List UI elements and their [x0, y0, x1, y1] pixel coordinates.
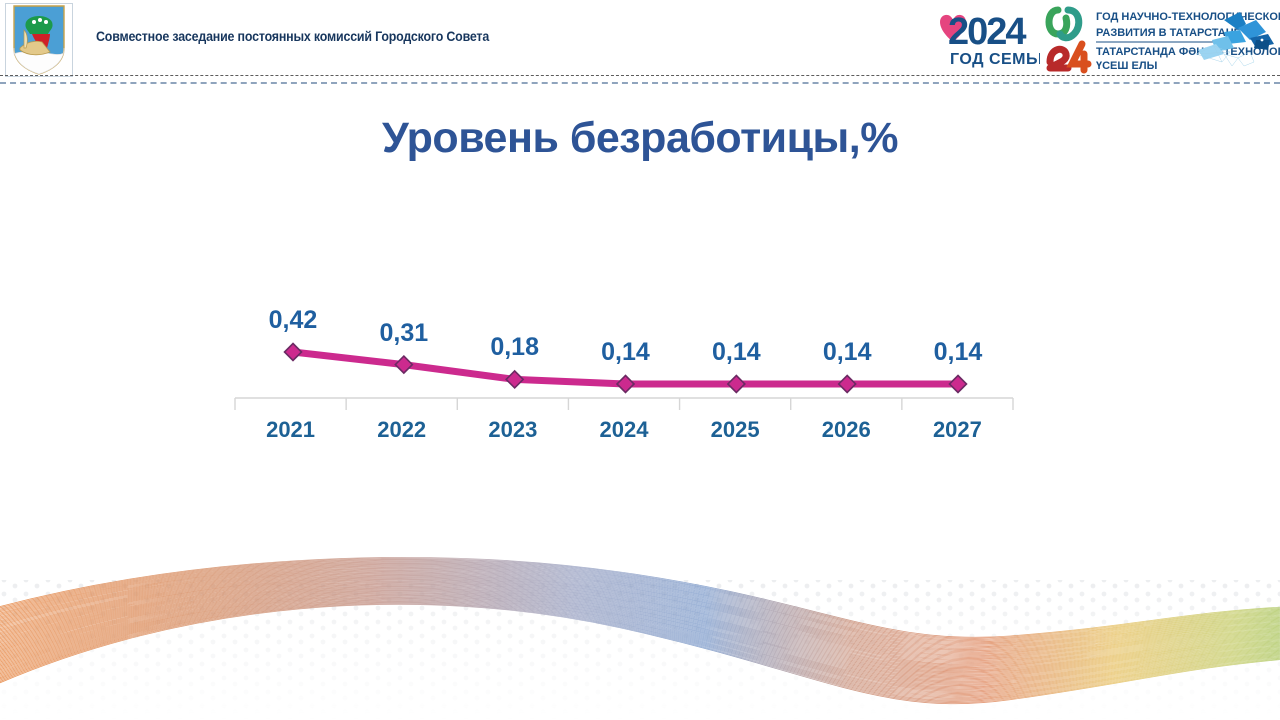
- wave-line: [0, 590, 1280, 683]
- wave-line: [0, 587, 1280, 679]
- data-value-label: 0,42: [233, 306, 353, 335]
- wave-line: [0, 581, 1280, 670]
- category-label-2027: 2027: [887, 417, 1027, 443]
- wave-line: [0, 558, 1280, 638]
- data-value-label: 0,14: [898, 338, 1018, 367]
- wave-line: [0, 573, 1280, 659]
- wave-line: [0, 575, 1280, 662]
- science-line-1: ГОД НАУЧНО-ТЕХНОЛОГИЧЕСКОГО: [1096, 11, 1280, 23]
- wave-line: [0, 597, 1280, 693]
- wave-line: [0, 574, 1280, 661]
- wave-line: [0, 557, 1280, 637]
- data-point-marker: [728, 376, 745, 393]
- wave-line: [0, 577, 1280, 665]
- wave-line: [0, 572, 1280, 658]
- wave-line: [0, 589, 1280, 682]
- slide-header: Совместное заседание постоянных комиссий…: [0, 0, 1280, 78]
- wave-line: [0, 599, 1280, 696]
- wave-line: [0, 592, 1280, 686]
- science-line-3: ТАТАРСТАНДА ФӘННИ-ТЕХНОЛОГИК: [1096, 46, 1280, 58]
- wave-line: [0, 577, 1280, 665]
- data-point-marker: [285, 344, 302, 361]
- data-point-marker: [950, 376, 967, 393]
- wave-line: [0, 583, 1280, 673]
- science-line-4: ҮСЕШ ЕЛЫ: [1096, 60, 1158, 72]
- data-value-label: 0,14: [676, 338, 796, 367]
- page-title: Уровень безработицы,%: [0, 114, 1280, 163]
- wave-line: [0, 595, 1280, 690]
- wave-line: [0, 598, 1280, 695]
- header-divider-light: [0, 82, 1280, 84]
- data-value-label: 0,31: [344, 319, 464, 348]
- data-point-marker: [506, 371, 523, 388]
- wave-line: [0, 596, 1280, 692]
- data-point-marker: [839, 376, 856, 393]
- wave-line: [0, 563, 1280, 645]
- wave-line: [0, 565, 1280, 648]
- wave-line: [0, 562, 1280, 644]
- data-point-marker: [395, 356, 412, 373]
- year-of-family-logo: 2024 ГОД СЕМЬИ: [928, 4, 1040, 70]
- wave-line: [0, 565, 1280, 648]
- wave-line: [0, 570, 1280, 655]
- wave-line: [0, 573, 1280, 659]
- wave-line: [0, 582, 1280, 672]
- wave-line: [0, 581, 1280, 671]
- wave-line: [0, 560, 1280, 641]
- science-logo-mark: [1049, 10, 1088, 70]
- wave-line: [0, 568, 1280, 652]
- wave-line: [0, 569, 1280, 653]
- wave-line: [0, 564, 1280, 647]
- svg-text:ГОД СЕМЬИ: ГОД СЕМЬИ: [950, 51, 1040, 68]
- data-point-marker: [617, 376, 634, 393]
- wave-line: [0, 584, 1280, 675]
- wave-line: [0, 588, 1280, 681]
- data-value-label: 0,18: [455, 333, 575, 362]
- wave-line: [0, 579, 1280, 668]
- wave-line: [0, 561, 1280, 643]
- wave-line: [0, 588, 1280, 680]
- wave-line: [0, 567, 1280, 651]
- wave-line: [0, 601, 1280, 699]
- header-divider-dark: [0, 75, 1280, 76]
- science-line-2: РАЗВИТИЯ В ТАТАРСТАНЕ: [1096, 27, 1241, 39]
- wave-line: [0, 576, 1280, 663]
- wave-line: [0, 578, 1280, 666]
- wave-line: [0, 604, 1280, 703]
- wave-line: [0, 602, 1280, 700]
- wave-line: [0, 566, 1280, 649]
- wave-line: [0, 596, 1280, 692]
- header-title: Совместное заседание постоянных комиссий…: [96, 29, 489, 44]
- wave-line: [0, 600, 1280, 698]
- wave-line: [0, 569, 1280, 654]
- wave-line: [0, 593, 1280, 688]
- wave-line: [0, 603, 1280, 702]
- wave-line: [0, 594, 1280, 689]
- data-value-label: 0,14: [566, 338, 686, 367]
- wave-line: [0, 600, 1280, 697]
- data-value-label: 0,14: [787, 338, 907, 367]
- wave-line: [0, 585, 1280, 676]
- wave-line: [0, 586, 1280, 678]
- wave-line: [0, 592, 1280, 686]
- x-axis-ticks: [235, 398, 1013, 410]
- decorative-wave: [0, 520, 1280, 720]
- wave-line: [0, 591, 1280, 685]
- wave-line: [0, 604, 1280, 703]
- wave-line: [0, 580, 1280, 669]
- wave-line: [0, 584, 1280, 675]
- year-of-science-logo: ГОД НАУЧНО-ТЕХНОЛОГИЧЕСКОГО РАЗВИТИЯ В Т…: [1044, 4, 1280, 74]
- wave-line: [0, 561, 1280, 642]
- coat-of-arms-icon: [5, 3, 73, 77]
- svg-text:2024: 2024: [948, 11, 1026, 53]
- wave-line: [0, 571, 1280, 656]
- wave-line: [0, 559, 1280, 640]
